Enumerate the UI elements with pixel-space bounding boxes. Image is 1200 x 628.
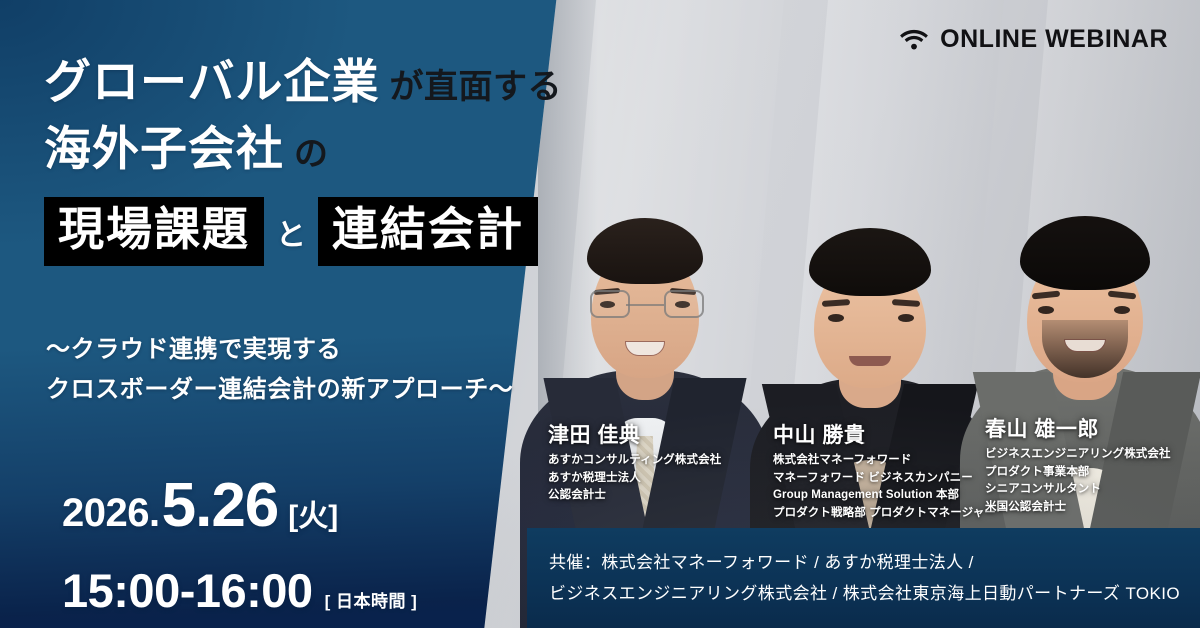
speaker-role-line: 株式会社マネーフォワード: [773, 452, 996, 469]
speaker-role-line: ビジネスエンジニアリング株式会社: [985, 446, 1171, 463]
headline: グローバル企業 が直面する 海外子会社 の 現場課題 と 連結会計: [44, 56, 562, 270]
headline-line1-emphasis: グローバル企業: [44, 56, 380, 109]
highlight-conjunction: と: [264, 210, 318, 254]
portrait-glasses-bridge: [626, 304, 664, 306]
headline-highlight-row: 現場課題 と 連結会計: [44, 197, 562, 266]
headline-line2-emphasis: 海外子会社: [44, 123, 284, 176]
subtitle-line-1: 〜クラウド連携で実現する: [46, 330, 513, 370]
portrait-hair: [587, 218, 703, 284]
speaker-caption-3: 春山 雄一郎 ビジネスエンジニアリング株式会社 プロダクト事業本部 シニアコンサ…: [985, 418, 1171, 516]
portrait-glasses-right: [664, 290, 704, 318]
speaker-role-line: あすかコンサルティング株式会社: [548, 452, 721, 469]
event-year: 2026.: [62, 491, 160, 536]
portrait-eye: [828, 314, 844, 322]
event-day-of-week: [火]: [288, 491, 338, 535]
event-date-row: 2026. 5.26 [火]: [62, 470, 417, 541]
speaker-role-line: マネーフォワード ビジネスカンパニー: [773, 470, 996, 487]
online-webinar-label: ONLINE WEBINAR: [940, 27, 1168, 52]
speaker-role-line: シニアコンサルタント: [985, 481, 1171, 498]
event-month-day: 5.26: [162, 470, 279, 541]
subtitle: 〜クラウド連携で実現する クロスボーダー連結会計の新アプローチ〜: [46, 330, 513, 411]
wifi-icon: [899, 28, 929, 51]
cohost-line-2: ビジネスエンジニアリング株式会社 / 株式会社東京海上日動パートナーズ TOKI…: [549, 578, 1200, 609]
portrait-hair: [1020, 216, 1150, 290]
highlight-box-renketsu-kaikei: 連結会計: [318, 197, 538, 266]
speaker-caption-2: 中山 勝貴 株式会社マネーフォワード マネーフォワード ビジネスカンパニー Gr…: [773, 424, 996, 522]
headline-line2-tail: の: [294, 126, 329, 175]
speaker-name: 春山 雄一郎: [985, 418, 1171, 441]
portrait-eye: [1114, 306, 1130, 314]
speaker-role-line: プロダクト戦略部 プロダクトマネージャー: [773, 505, 996, 522]
speaker-role: あすかコンサルティング株式会社 あすか税理士法人 公認会計士: [548, 452, 721, 504]
speaker-caption-1: 津田 佳典 あすかコンサルティング株式会社 あすか税理士法人 公認会計士: [548, 424, 721, 505]
event-time-row: 15:00-16:00 [ 日本時間 ]: [62, 563, 417, 618]
event-timezone: [ 日本時間 ]: [325, 587, 418, 612]
speaker-name: 津田 佳典: [548, 424, 721, 447]
event-datetime: 2026. 5.26 [火] 15:00-16:00 [ 日本時間 ]: [62, 470, 417, 618]
cohost-bar: 共催：株式会社マネーフォワード / あすか税理士法人 / ビジネスエンジニアリン…: [527, 528, 1200, 628]
speaker-role: 株式会社マネーフォワード マネーフォワード ビジネスカンパニー Group Ma…: [773, 452, 996, 522]
highlight-box-genba-kadai: 現場課題: [44, 197, 264, 266]
subtitle-line-2: クロスボーダー連結会計の新アプローチ〜: [46, 370, 513, 410]
portrait-mouth: [1064, 339, 1106, 352]
speaker-role: ビジネスエンジニアリング株式会社 プロダクト事業本部 シニアコンサルタント 米国…: [985, 446, 1171, 516]
portrait-mouth: [849, 356, 891, 366]
speaker-role-line: 公認会計士: [548, 487, 721, 504]
speaker-name: 中山 勝貴: [773, 424, 996, 447]
online-webinar-badge: ONLINE WEBINAR: [899, 27, 1168, 52]
speaker-role-line: プロダクト事業本部: [985, 464, 1171, 481]
headline-line-2: 海外子会社 の: [44, 123, 562, 176]
speaker-role-line: 米国公認会計士: [985, 499, 1171, 516]
portrait-glasses-left: [590, 290, 630, 318]
speaker-role-line: あすか税理士法人: [548, 470, 721, 487]
event-time: 15:00-16:00: [62, 563, 313, 618]
portrait-eye: [898, 314, 914, 322]
portrait-hair: [809, 228, 931, 296]
cohost-line-1: 共催：株式会社マネーフォワード / あすか税理士法人 /: [549, 547, 1200, 578]
headline-line1-tail: が直面する: [390, 59, 563, 108]
headline-line-1: グローバル企業 が直面する: [44, 56, 562, 109]
webinar-banner: ONLINE WEBINAR グローバル企業 が直面する 海外子会社 の 現場課…: [0, 0, 1200, 628]
portrait-eye: [1038, 306, 1054, 314]
speaker-role-line: Group Management Solution 本部: [773, 487, 996, 504]
